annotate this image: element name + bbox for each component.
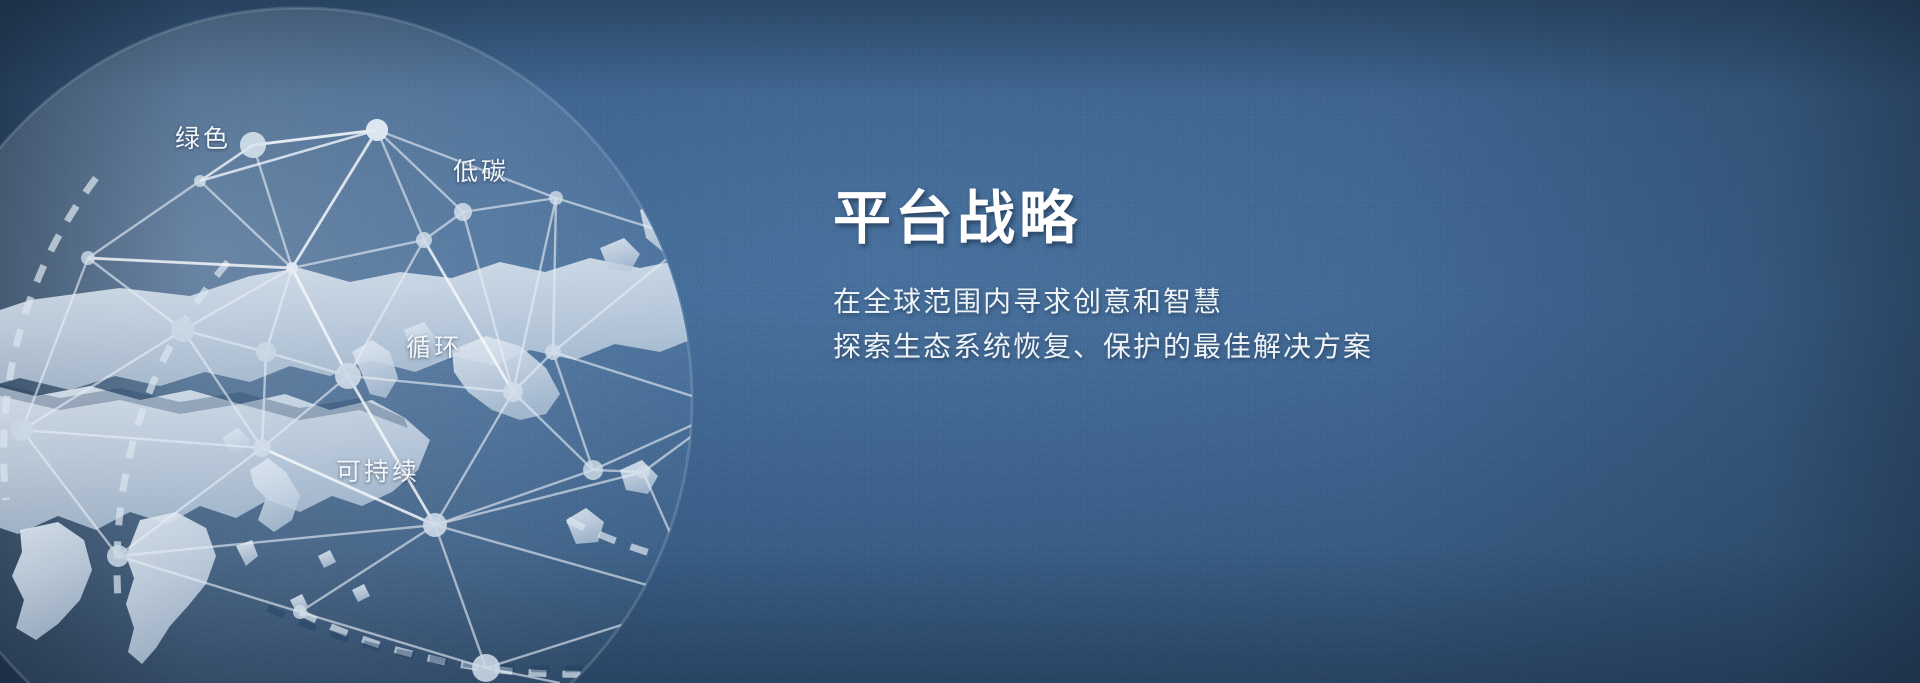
hero-subtitle-group: 在全球范围内寻求创意和智慧 探索生态系统恢复、保护的最佳解决方案 (833, 279, 1733, 370)
globe-label-circular: 循环 (406, 336, 462, 361)
hero-subtitle-line-2: 探索生态系统恢复、保护的最佳解决方案 (833, 324, 1733, 369)
hero-headline: 平台战略 (833, 186, 1733, 253)
hero-subtitle-line-1: 在全球范围内寻求创意和智慧 (833, 279, 1733, 324)
globe-label-low-carbon: 低碳 (453, 160, 509, 185)
hero-text-block: 平台战略 在全球范围内寻求创意和智慧 探索生态系统恢复、保护的最佳解决方案 (833, 186, 1733, 369)
globe-label-green: 绿色 (175, 127, 231, 152)
globe-graphic: 绿色 低碳 循环 可持续 (0, 0, 860, 683)
globe-label-sustainable: 可持续 (336, 460, 420, 485)
hero-banner: 绿色 低碳 循环 可持续 平台战略 在全球范围内寻求创意和智慧 探索生态系统恢复… (0, 0, 1920, 683)
